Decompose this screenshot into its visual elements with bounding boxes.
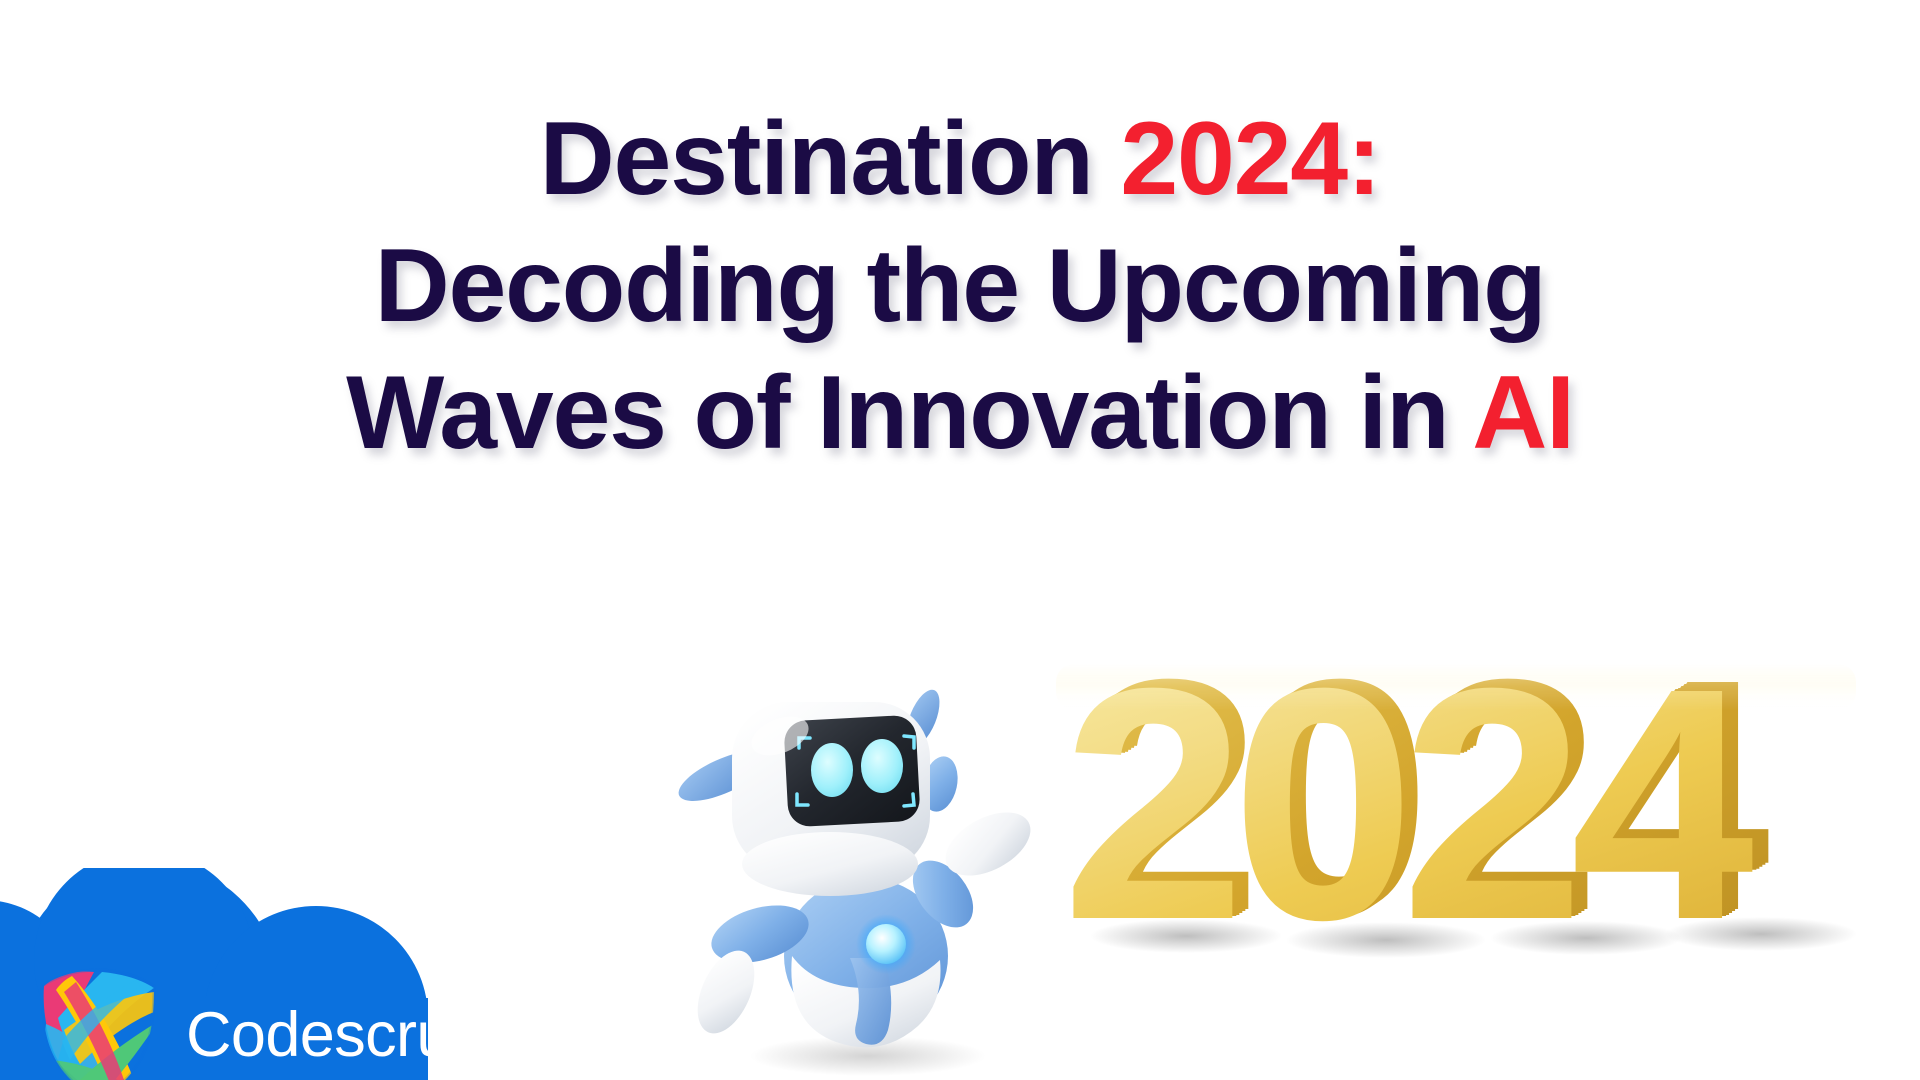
headline-line-2: Decoding the Upcoming <box>0 223 1920 350</box>
ai-robot-mascot <box>668 656 1068 1080</box>
slide-canvas: Destination 2024: Decoding the Upcoming … <box>0 0 1920 1080</box>
page-title: Destination 2024: Decoding the Upcoming … <box>0 96 1920 477</box>
robot-right-eye <box>861 739 903 793</box>
headline-line-1: Destination 2024: <box>0 96 1920 223</box>
robot-chest-light <box>866 924 906 964</box>
brand-badge[interactable]: Codescrum <box>0 868 608 1080</box>
robot-head <box>732 702 930 896</box>
codescrum-woven-shield-icon <box>36 968 160 1080</box>
headline-line1-accent: 2024: <box>1120 101 1380 217</box>
brand-wordmark: Codescrum <box>186 1004 503 1067</box>
headline-line-3: Waves of Innovation in AI <box>0 350 1920 477</box>
headline-line3-navy: Waves of Innovation in <box>346 355 1472 471</box>
brand-lockup[interactable]: Codescrum <box>36 968 503 1080</box>
gold-3d-2024: 2024 <box>1046 628 1876 988</box>
headline-line3-accent: AI <box>1472 355 1574 471</box>
robot-left-eye <box>811 743 853 797</box>
headline-line1-navy: Destination <box>540 101 1121 217</box>
